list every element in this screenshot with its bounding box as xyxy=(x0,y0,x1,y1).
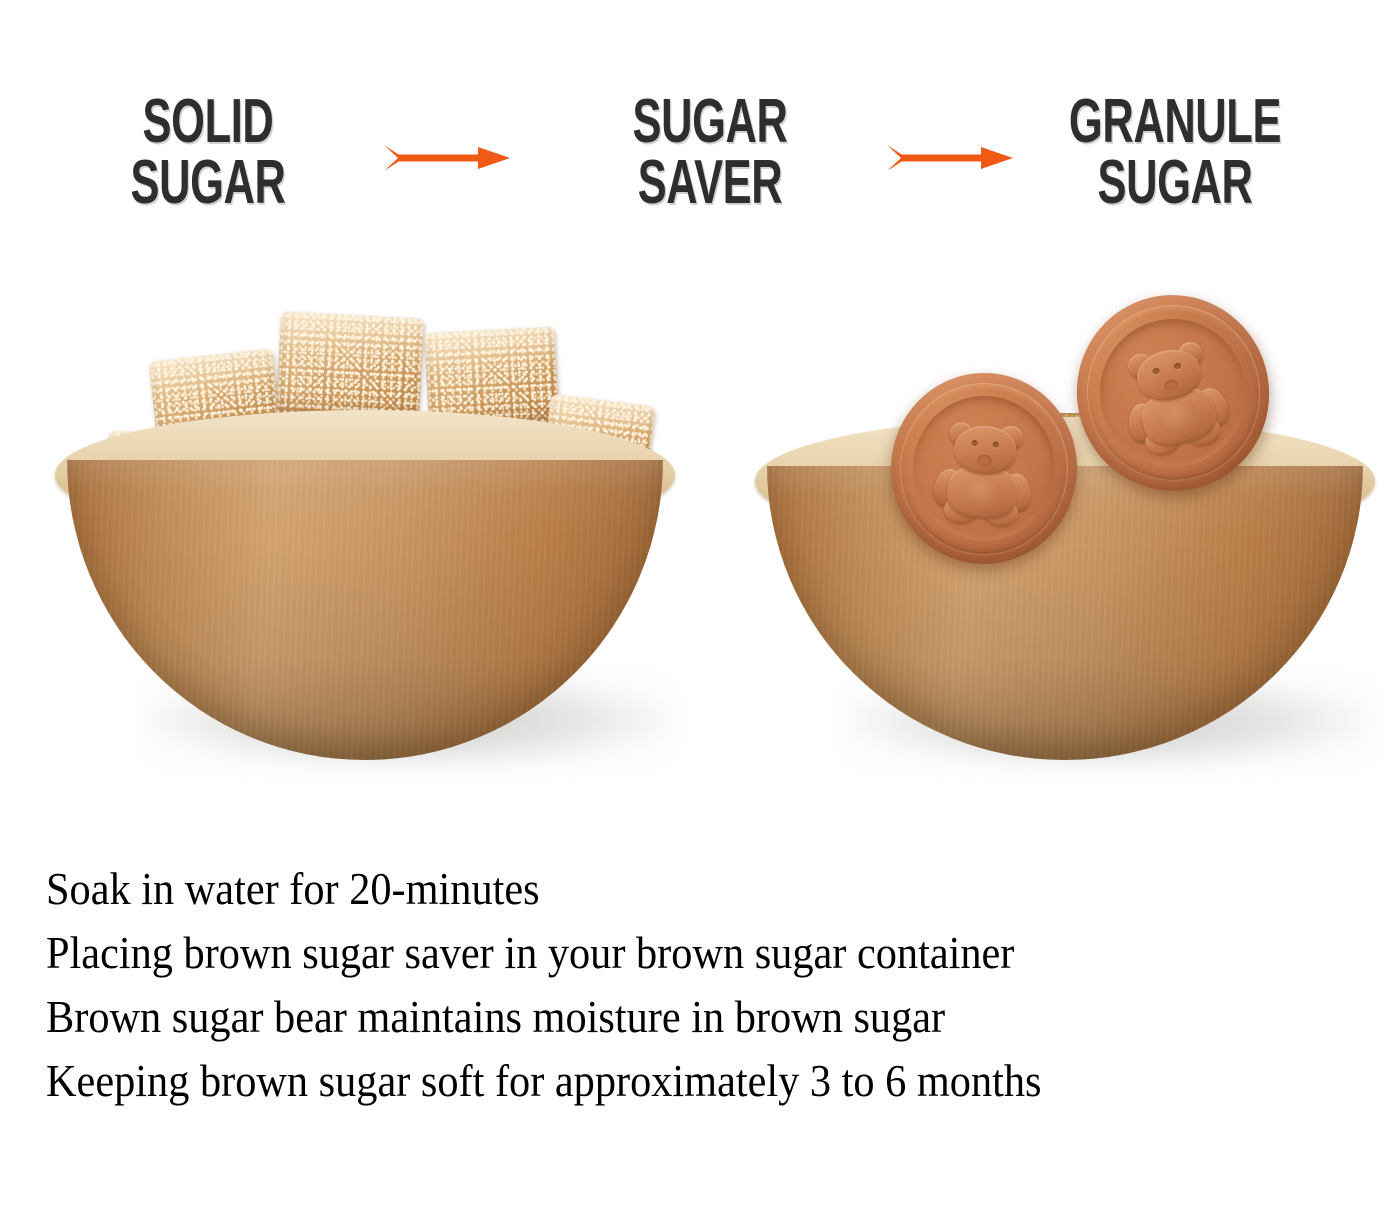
instruction-line: Keeping brown sugar soft for approximate… xyxy=(46,1049,1270,1113)
header-step-line2: SUGAR xyxy=(131,153,286,214)
wooden-bowl xyxy=(67,460,662,760)
header-step-line2: SUGAR xyxy=(1098,153,1253,214)
header-step-line1: GRANULE xyxy=(1069,92,1281,153)
header-step-solid-sugar: SOLID SUGAR xyxy=(103,92,313,214)
photo-bowl-granulated-sugar xyxy=(755,290,1375,780)
header-step-line1: SUGAR xyxy=(633,92,788,153)
instruction-line: Soak in water for 20-minutes xyxy=(46,857,1270,921)
instruction-line: Brown sugar bear maintains moisture in b… xyxy=(46,985,1270,1049)
disc-well xyxy=(909,391,1060,546)
header-step-sugar-saver: SUGAR SAVER xyxy=(605,92,815,214)
arrow-right-icon xyxy=(885,135,1015,181)
infographic-canvas: SOLID SUGAR SUGAR SAVER GRANULE SUGAR xyxy=(0,0,1400,1225)
arrow-right-icon xyxy=(382,135,512,181)
photo-bowl-sugar-cubes xyxy=(55,280,675,780)
instruction-line: Placing brown sugar saver in your brown … xyxy=(46,921,1270,985)
header-step-line2: SAVER xyxy=(638,153,783,214)
header-step-granule-sugar: GRANULE SUGAR xyxy=(1056,92,1294,214)
header-step-line1: SOLID xyxy=(143,92,274,153)
instruction-list: Soak in water for 20-minutes Placing bro… xyxy=(46,857,1270,1113)
teddy-bear-relief-icon xyxy=(909,391,1060,546)
